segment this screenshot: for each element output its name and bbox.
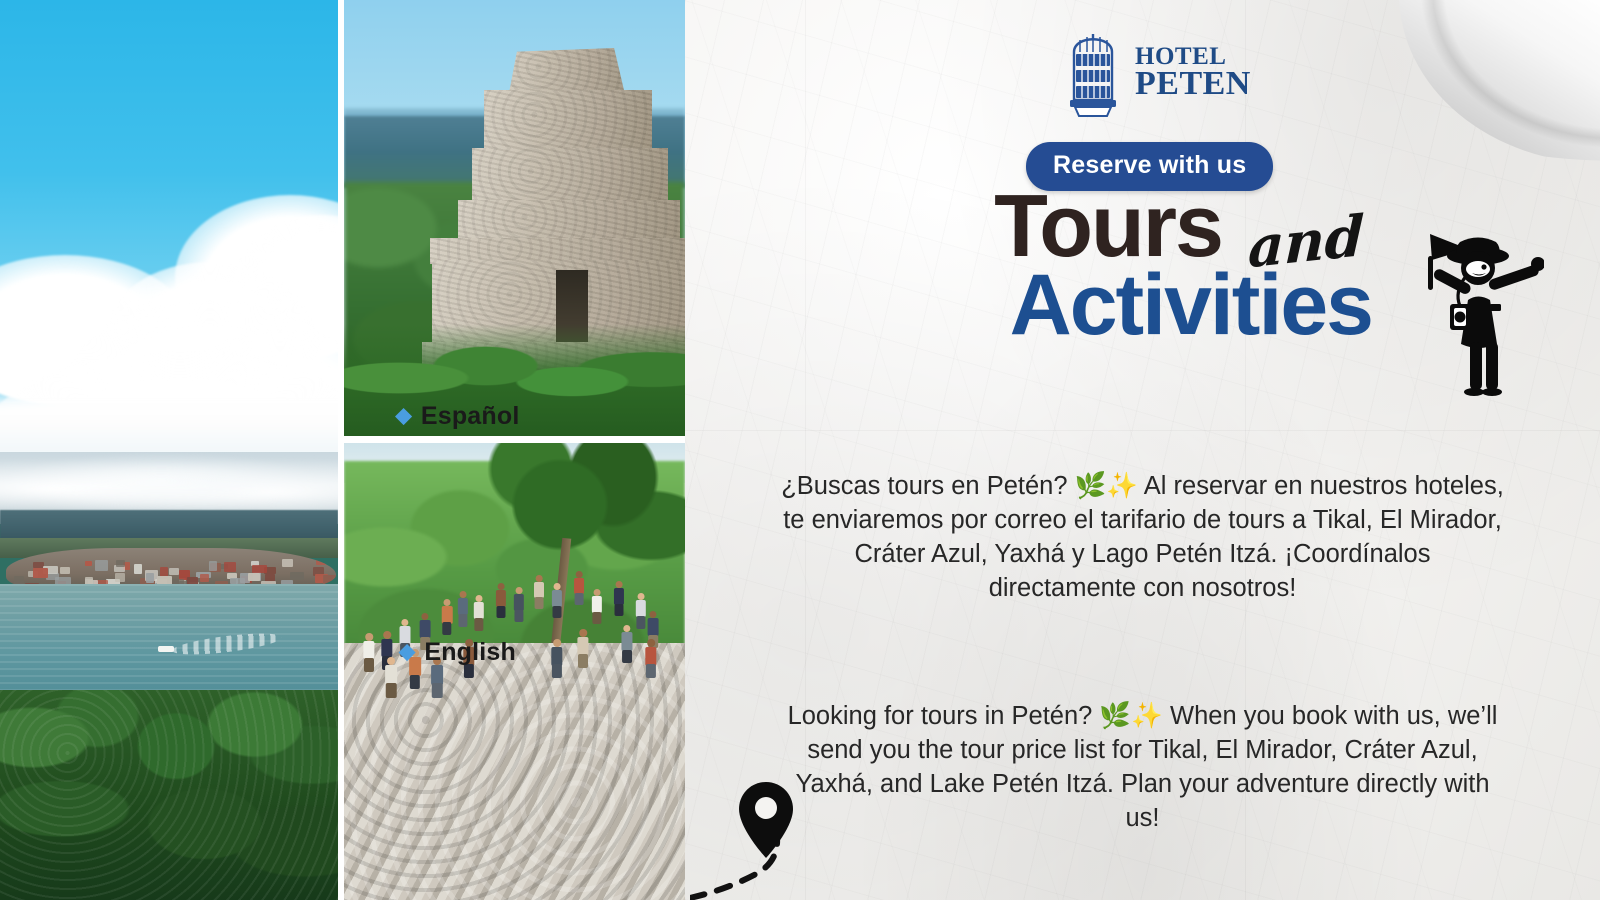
section-heading-label: Español xyxy=(421,402,520,430)
tourist-figure xyxy=(456,591,470,626)
tourist-figure xyxy=(512,587,526,621)
title-word-activities: Activities xyxy=(1010,262,1372,348)
diamond-bullet-icon: ◆ xyxy=(399,640,415,663)
logo-wordmark: HOTEL PETEN xyxy=(1135,45,1251,99)
tourist-figure xyxy=(440,599,454,634)
logo-line-2: PETEN xyxy=(1135,68,1251,99)
tourist-figure xyxy=(472,595,486,630)
section-paragraph-espanol: ¿Buscas tours en Petén? 🌿✨ Al reservar e… xyxy=(780,470,1505,606)
map-pin-with-trail xyxy=(690,778,920,900)
tours-and-activities-poster: HOTEL PETEN Reserve with us Tours and Ac… xyxy=(0,0,1600,900)
photo-collage xyxy=(0,0,685,900)
section-heading-label: English xyxy=(424,638,516,666)
hotel-peten-logo: HOTEL PETEN xyxy=(1062,26,1251,118)
curl-edge xyxy=(1400,0,1600,165)
tourist-figure xyxy=(550,583,564,617)
jungle-texture xyxy=(0,690,338,900)
section-heading-espanol: ◆Español xyxy=(0,402,915,431)
lake-photo xyxy=(0,452,338,900)
group-photo xyxy=(344,443,685,900)
section-heading-english: ◆English xyxy=(0,638,915,667)
tourist-figure xyxy=(612,581,626,615)
page-title: Tours and Activities xyxy=(700,188,1400,276)
tourist-figure xyxy=(494,583,508,617)
map-pin-icon xyxy=(739,782,793,858)
sky-photo xyxy=(0,0,338,452)
tourist-figure xyxy=(532,575,546,608)
tikal-photo xyxy=(344,0,685,436)
tourist-figure xyxy=(590,589,604,623)
lake-clouds xyxy=(0,454,338,512)
diamond-bullet-icon: ◆ xyxy=(395,404,411,427)
birdcage-icon xyxy=(1062,26,1124,118)
tour-guide-silhouette-icon xyxy=(1392,216,1544,396)
tourist-figure xyxy=(572,571,586,604)
